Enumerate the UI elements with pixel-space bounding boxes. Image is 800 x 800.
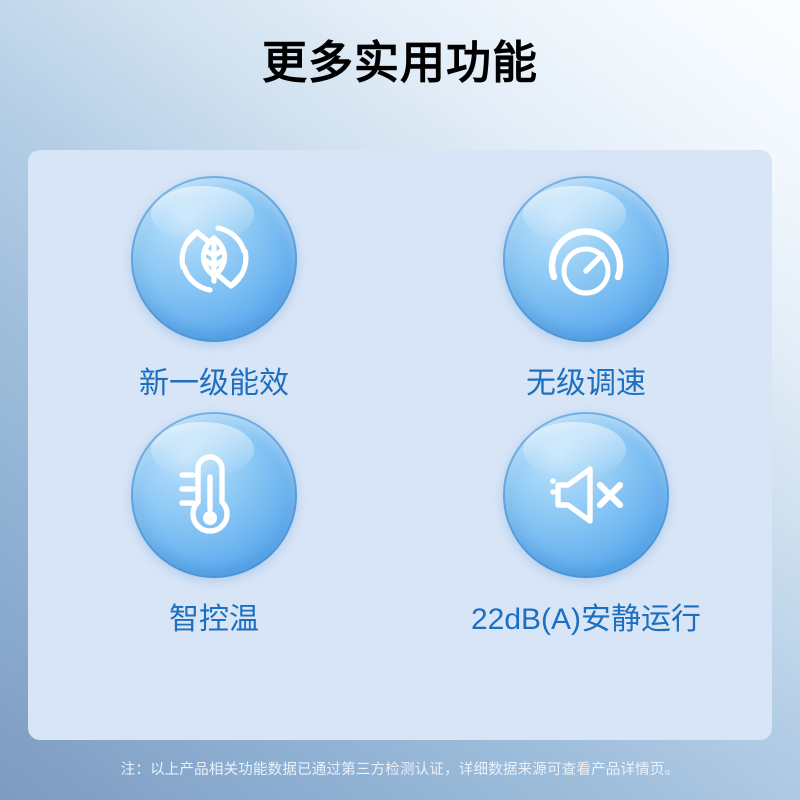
feature-item-stepless-speed[interactable]: 无级调速 [400,176,772,402]
promo-page: 更多实用功能 [0,0,800,800]
footnote-disclaimer: 注：以上产品相关功能数据已通过第三方检测认证，详细数据来源可查看产品详情页。 [0,758,800,779]
feature-label: 智控温 [169,602,259,638]
eco-leaf-recycle-icon [166,211,262,307]
features-card: 新一级能效 无级调速 [28,150,772,740]
feature-label: 新一级能效 [139,366,289,402]
feature-label: 无级调速 [526,366,646,402]
feature-icon-bubble [131,412,297,578]
page-title: 更多实用功能 [0,36,800,90]
feature-icon-bubble [131,176,297,342]
feature-grid: 新一级能效 无级调速 [28,176,772,638]
thermometer-icon [166,447,262,543]
feature-item-quiet-operation[interactable]: 22dB(A)安静运行 [400,412,772,638]
feature-icon-bubble [503,412,669,578]
speedometer-gauge-icon [538,211,634,307]
feature-item-temperature-control[interactable]: 智控温 [28,412,400,638]
feature-label: 22dB(A)安静运行 [471,602,701,638]
speaker-mute-icon [538,447,634,543]
feature-item-energy-efficiency[interactable]: 新一级能效 [28,176,400,402]
feature-icon-bubble [503,176,669,342]
